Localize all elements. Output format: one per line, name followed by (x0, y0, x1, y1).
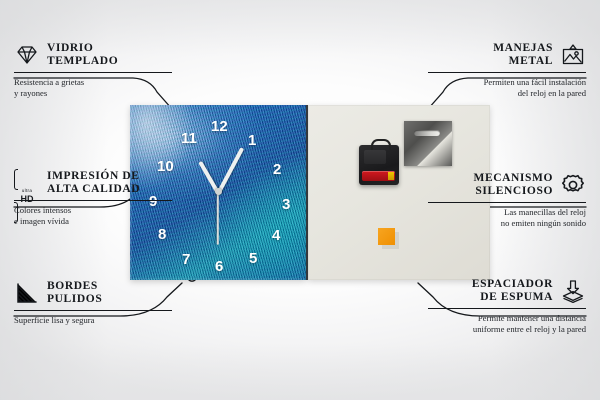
feature-title: ESPACIADOR DE ESPUMA (472, 278, 553, 304)
feature-espaciador-de-espuma: ESPACIADOR DE ESPUMA Permite mantener un… (428, 278, 586, 335)
clock-second-hand (217, 193, 219, 245)
clock-number-2: 2 (273, 162, 281, 177)
clock-number-3: 3 (282, 197, 290, 212)
clock-number-4: 4 (272, 228, 280, 243)
ultra-hd-icon: ultra HD (14, 171, 40, 195)
infographic-canvas: 12 1 2 3 4 5 6 7 8 9 10 11 (0, 0, 600, 400)
feature-title: MANEJAS METAL (493, 42, 553, 68)
feature-title: VIDRIO TEMPLADO (47, 42, 118, 68)
metal-hanger-plate (404, 121, 452, 166)
feature-title: MECANISMO SILENCIOSO (473, 172, 553, 198)
feature-description: Las manecillas del reloj no emiten ningú… (428, 207, 586, 229)
divider (428, 308, 586, 309)
clock-number-1: 1 (248, 133, 256, 148)
feature-bordes-pulidos: BORDES PULIDOS Superficie lisa y segura (14, 280, 172, 326)
clock-center-cap (215, 188, 222, 195)
clock-number-8: 8 (158, 227, 166, 242)
ultra-hd-top-label: ultra (14, 189, 40, 194)
diamond-icon (14, 43, 40, 67)
feature-manejas-metal: MANEJAS METAL Permiten una fácil instala… (428, 42, 586, 99)
feature-description: Permite mantener una distancia uniforme … (428, 313, 586, 335)
clock-number-11: 11 (181, 131, 197, 146)
battery (362, 171, 395, 181)
ultra-hd-main-label: HD (14, 195, 40, 204)
divider (428, 202, 586, 203)
clock-number-5: 5 (249, 251, 257, 266)
clock-mechanism (359, 145, 399, 185)
clock-number-12: 12 (211, 119, 228, 134)
arrow-into-stack-icon (560, 279, 586, 303)
foam-spacer (378, 228, 395, 245)
divider (14, 310, 172, 311)
divider (14, 72, 172, 73)
feature-title: IMPRESIÓN DE ALTA CALIDAD (47, 170, 140, 196)
feature-title: BORDES PULIDOS (47, 280, 102, 306)
clock-number-6: 6 (215, 259, 223, 274)
mechanism-housing (364, 150, 386, 164)
hanger-slot (414, 130, 440, 136)
feature-mecanismo-silencioso: MECANISMO SILENCIOSO Las manecillas del … (428, 172, 586, 229)
mechanism-hanging-loop (371, 139, 391, 150)
feature-description: Colores intensos e imagen vívida (14, 205, 172, 227)
feature-description: Resistencia a grietas y rayones (14, 77, 172, 99)
feature-impresion-alta-calidad: ultra HD IMPRESIÓN DE ALTA CALIDAD Color… (14, 170, 172, 227)
feature-vidrio-templado: VIDRIO TEMPLADO Resistencia a grietas y … (14, 42, 172, 99)
clock-number-7: 7 (182, 252, 190, 267)
gear-icon (560, 173, 586, 197)
feature-description: Superficie lisa y segura (14, 315, 172, 326)
picture-frame-icon (560, 43, 586, 67)
divider (428, 72, 586, 73)
feature-description: Permiten una fácil instalación del reloj… (428, 77, 586, 99)
polished-edge-icon (14, 281, 40, 305)
